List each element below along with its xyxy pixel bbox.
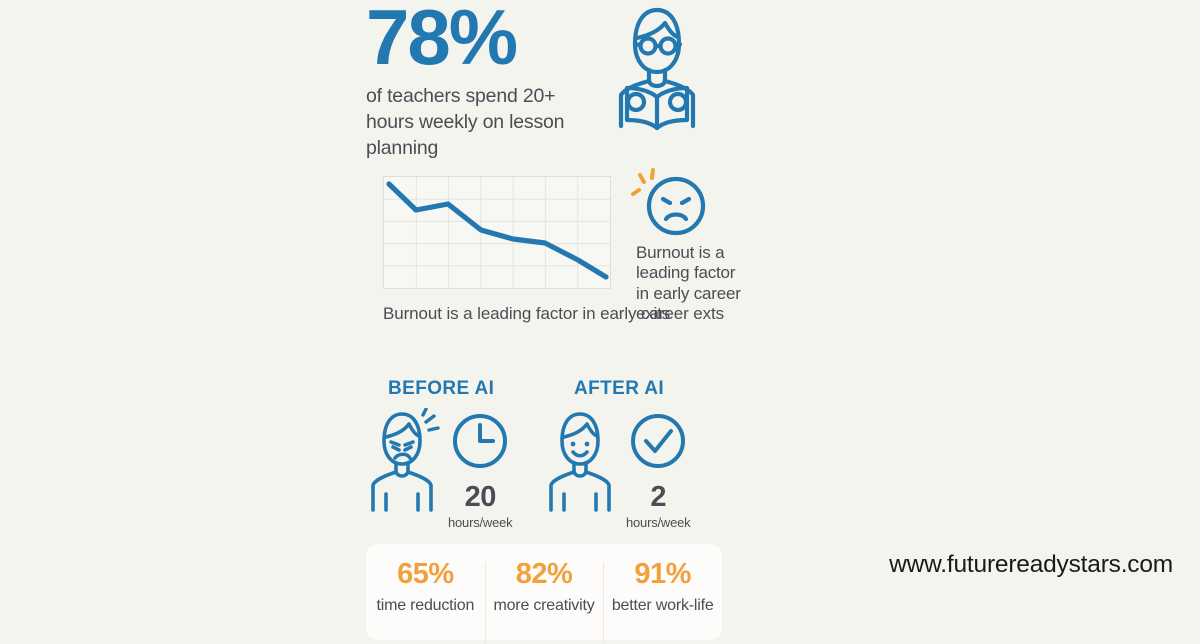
line-chart <box>383 176 611 289</box>
before-after-comparison: BEFORE AI <box>366 378 722 530</box>
after-hours-unit: hours/week <box>626 515 690 530</box>
headline-stat-block: 78% of teachers spend 20+ hours weekly o… <box>366 2 606 162</box>
stat-cell: 65% time reduction <box>366 560 485 640</box>
stat-percent: 65% <box>366 560 485 589</box>
headline-description: of teachers spend 20+ hours weekly on le… <box>366 84 606 162</box>
sad-person-icon <box>366 408 448 517</box>
stat-label: better work-life <box>603 596 722 616</box>
after-metric: 2 hours/week <box>626 412 690 530</box>
check-circle-icon <box>629 412 687 475</box>
comparison-column-after: AFTER AI <box>544 378 722 530</box>
stat-label: time reduction <box>366 596 485 616</box>
after-ai-title: AFTER AI <box>574 378 722 400</box>
stat-cell: 91% better work-life <box>603 560 722 640</box>
summary-stats-card: 65% time reduction 82% more creativity 9… <box>366 544 722 640</box>
stat-percent: 91% <box>603 560 722 589</box>
site-url: www.futurereadystars.com <box>889 551 1173 579</box>
infographic-canvas: 78% of teachers spend 20+ hours weekly o… <box>0 0 1200 628</box>
happy-person-icon <box>544 408 626 517</box>
burnout-side-note-text: Burnout is a leading factor in early car… <box>636 243 741 325</box>
before-hours-value: 20 <box>465 483 496 512</box>
burnout-side-note: Burnout is a leading factor in early car… <box>636 243 741 325</box>
stat-percent: 82% <box>485 560 604 589</box>
stat-label: more creativity <box>485 596 604 616</box>
reading-person-icon <box>608 2 706 135</box>
headline-percent: 78% <box>366 2 606 74</box>
before-ai-title: BEFORE AI <box>388 378 544 400</box>
angry-face-icon <box>630 168 710 247</box>
stat-cell: 82% more creativity <box>485 560 604 640</box>
comparison-column-before: BEFORE AI <box>366 378 544 530</box>
before-hours-unit: hours/week <box>448 515 512 530</box>
clock-icon <box>451 412 509 475</box>
after-hours-value: 2 <box>650 483 666 512</box>
before-metric: 20 hours/week <box>448 412 512 530</box>
chart-line <box>389 184 606 277</box>
